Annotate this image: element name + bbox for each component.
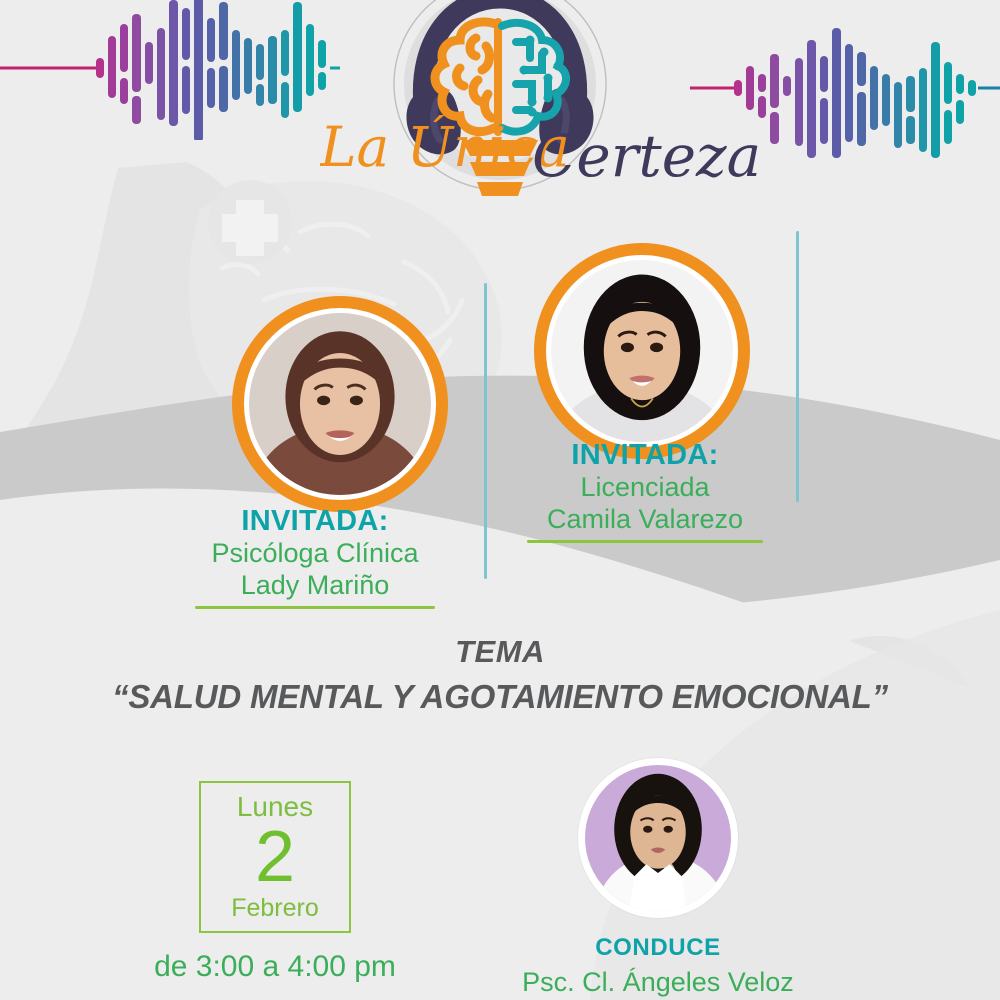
- host-info: CONDUCE Psc. Cl. Ángeles Veloz: [498, 934, 818, 998]
- guest-2-label: INVITADA:: [430, 440, 860, 472]
- avatar: [585, 765, 731, 911]
- guest-2-info: INVITADA: Licenciada Camila Valarezo: [430, 440, 860, 543]
- avatar: [551, 260, 733, 442]
- guest-photo-lady-marino: [232, 296, 448, 512]
- date-day: 2: [255, 823, 295, 892]
- topic-title: “SALUD MENTAL Y AGOTAMIENTO EMOCIONAL”: [0, 678, 1000, 716]
- brand-script-part-2: Certeza: [532, 122, 760, 190]
- avatar: [249, 313, 431, 495]
- brand-logo: La Única Certeza: [320, 0, 680, 214]
- waveform-left-icon: [0, 0, 340, 140]
- medical-cross-watermark: [208, 180, 292, 264]
- guest-2-title: Licenciada: [430, 472, 860, 504]
- guest-2-underline: [527, 540, 763, 543]
- guest-2-name: Camila Valarezo: [430, 504, 860, 536]
- host-name: Psc. Cl. Ángeles Veloz: [498, 967, 818, 998]
- brand-script-text: La Única Certeza: [320, 102, 760, 192]
- guest-1-name: Lady Mariño: [100, 570, 530, 602]
- guest-1-underline: [195, 606, 435, 609]
- guest-1-title: Psicóloga Clínica: [100, 538, 530, 570]
- topic-kicker: TEMA: [0, 634, 1000, 670]
- date-month: Febrero: [231, 896, 319, 921]
- guest-photo-camila-valarezo: [534, 243, 750, 459]
- topic-section: TEMA “SALUD MENTAL Y AGOTAMIENTO EMOCION…: [0, 634, 1000, 716]
- flyer-poster: La Única Certeza: [0, 0, 1000, 1000]
- host-label: CONDUCE: [498, 934, 818, 962]
- date-box: Lunes 2 Febrero: [199, 781, 351, 933]
- host-photo-angeles-veloz: [578, 758, 738, 918]
- event-time: de 3:00 a 4:00 pm: [120, 950, 430, 984]
